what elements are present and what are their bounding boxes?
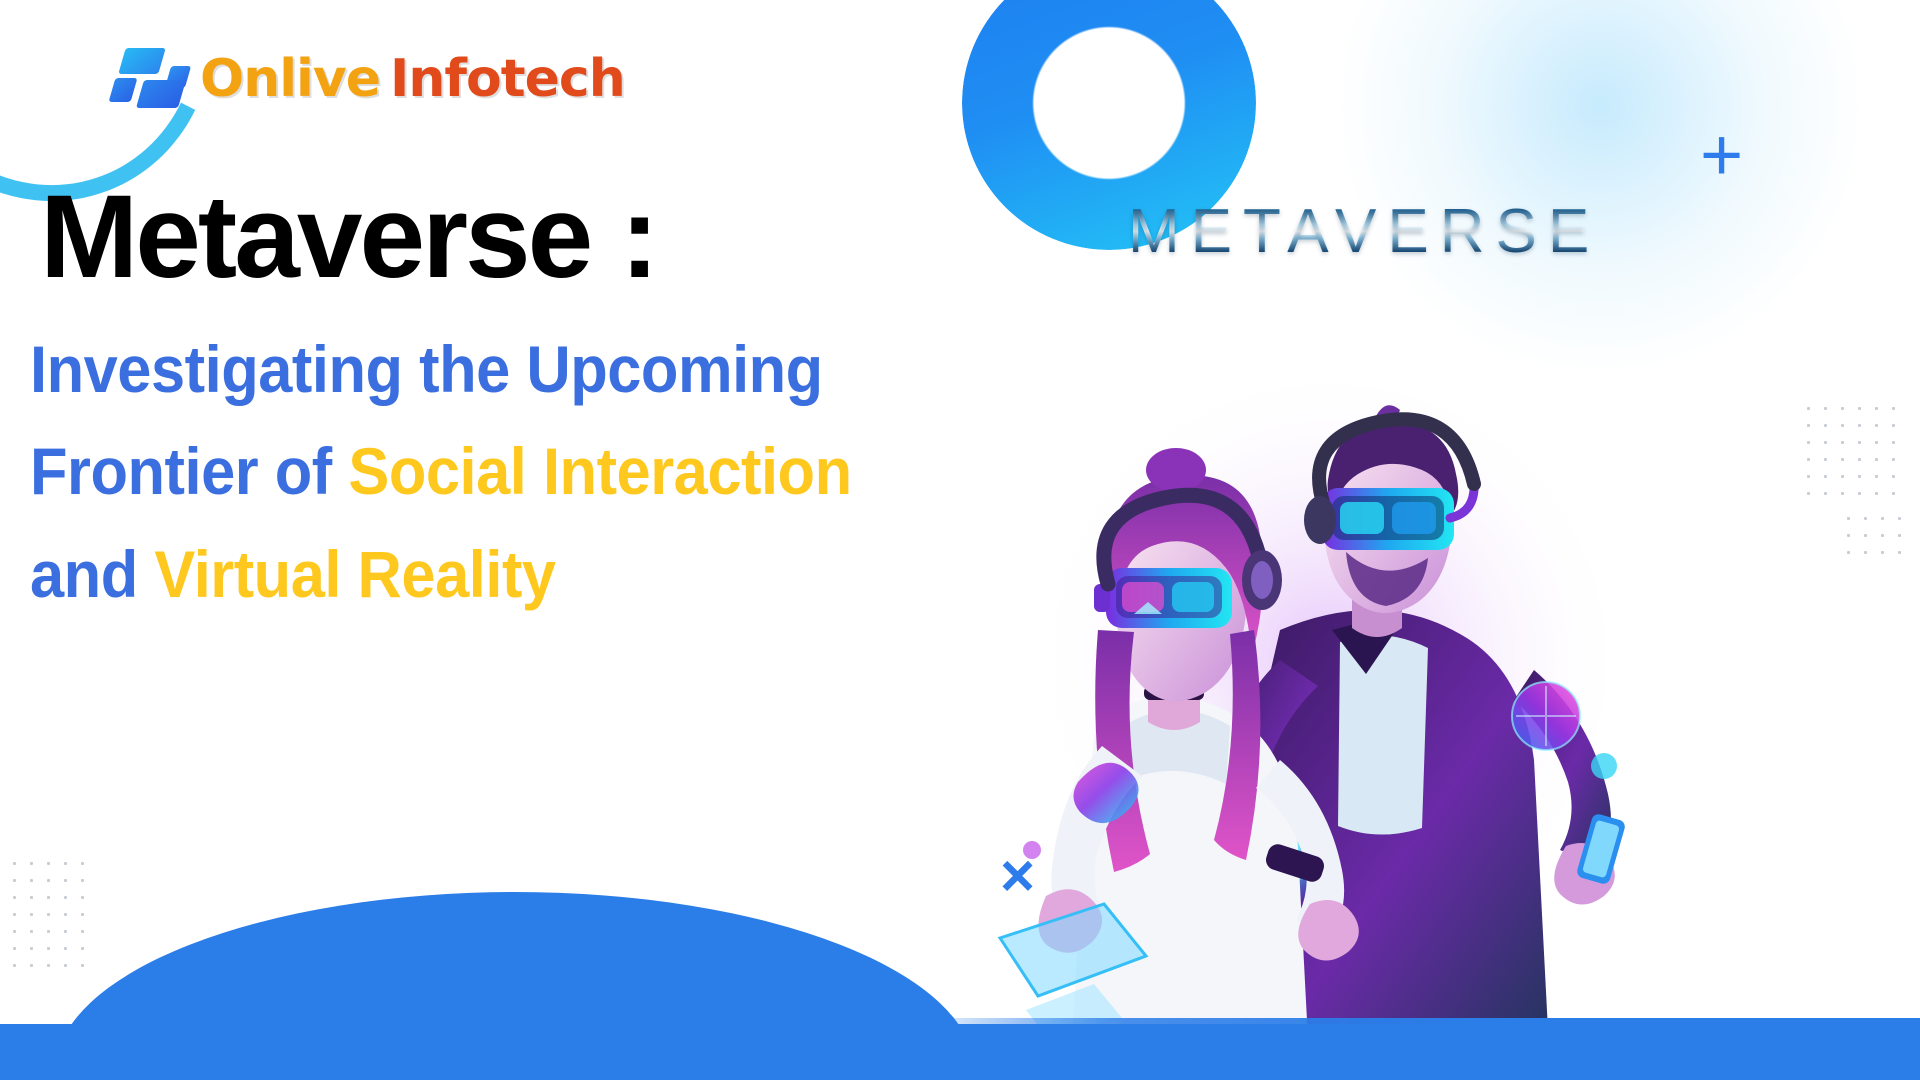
- subtitle-line-3-base: and: [30, 537, 154, 611]
- dot-grid-right-upper: [1800, 400, 1905, 505]
- metaverse-chrome-wordmark: METAVERSE: [1128, 196, 1600, 267]
- parallelogram-blocks-logo-icon: [112, 48, 184, 110]
- subtitle-line-2-base: Frontier of: [30, 434, 348, 508]
- page-title: Metaverse :: [40, 178, 656, 296]
- subtitle-line-1: Investigating the Upcoming: [30, 318, 923, 420]
- subtitle-line-3-highlight: Virtual Reality: [154, 537, 555, 611]
- subtitle-line-2: Frontier of Social Interaction: [30, 420, 923, 522]
- top-right-glow-decoration: [1340, 0, 1860, 370]
- dot-grid-right-lower: [1840, 510, 1910, 565]
- brand-name-part1: Onlive: [200, 49, 380, 109]
- dot-grid-bottom-left: [6, 855, 86, 967]
- brand-logo[interactable]: OnliveInfotech: [112, 48, 625, 110]
- metaverse-promo-banner: + × OnliveInfotech Metaverse : Investiga…: [0, 0, 1920, 1080]
- plus-icon: +: [1700, 118, 1743, 192]
- subtitle-line-3: and Virtual Reality: [30, 523, 923, 625]
- vr-couple-illustration: [980, 330, 1680, 1050]
- bottom-blue-bar: [0, 1024, 1920, 1080]
- brand-name-part2: Infotech: [390, 49, 625, 109]
- brand-name: OnliveInfotech: [200, 49, 625, 109]
- subtitle-line-1-text: Investigating the Upcoming: [30, 332, 823, 406]
- subtitle-line-2-highlight: Social Interaction: [348, 434, 851, 508]
- subtitle: Investigating the Upcoming Frontier of S…: [30, 318, 923, 625]
